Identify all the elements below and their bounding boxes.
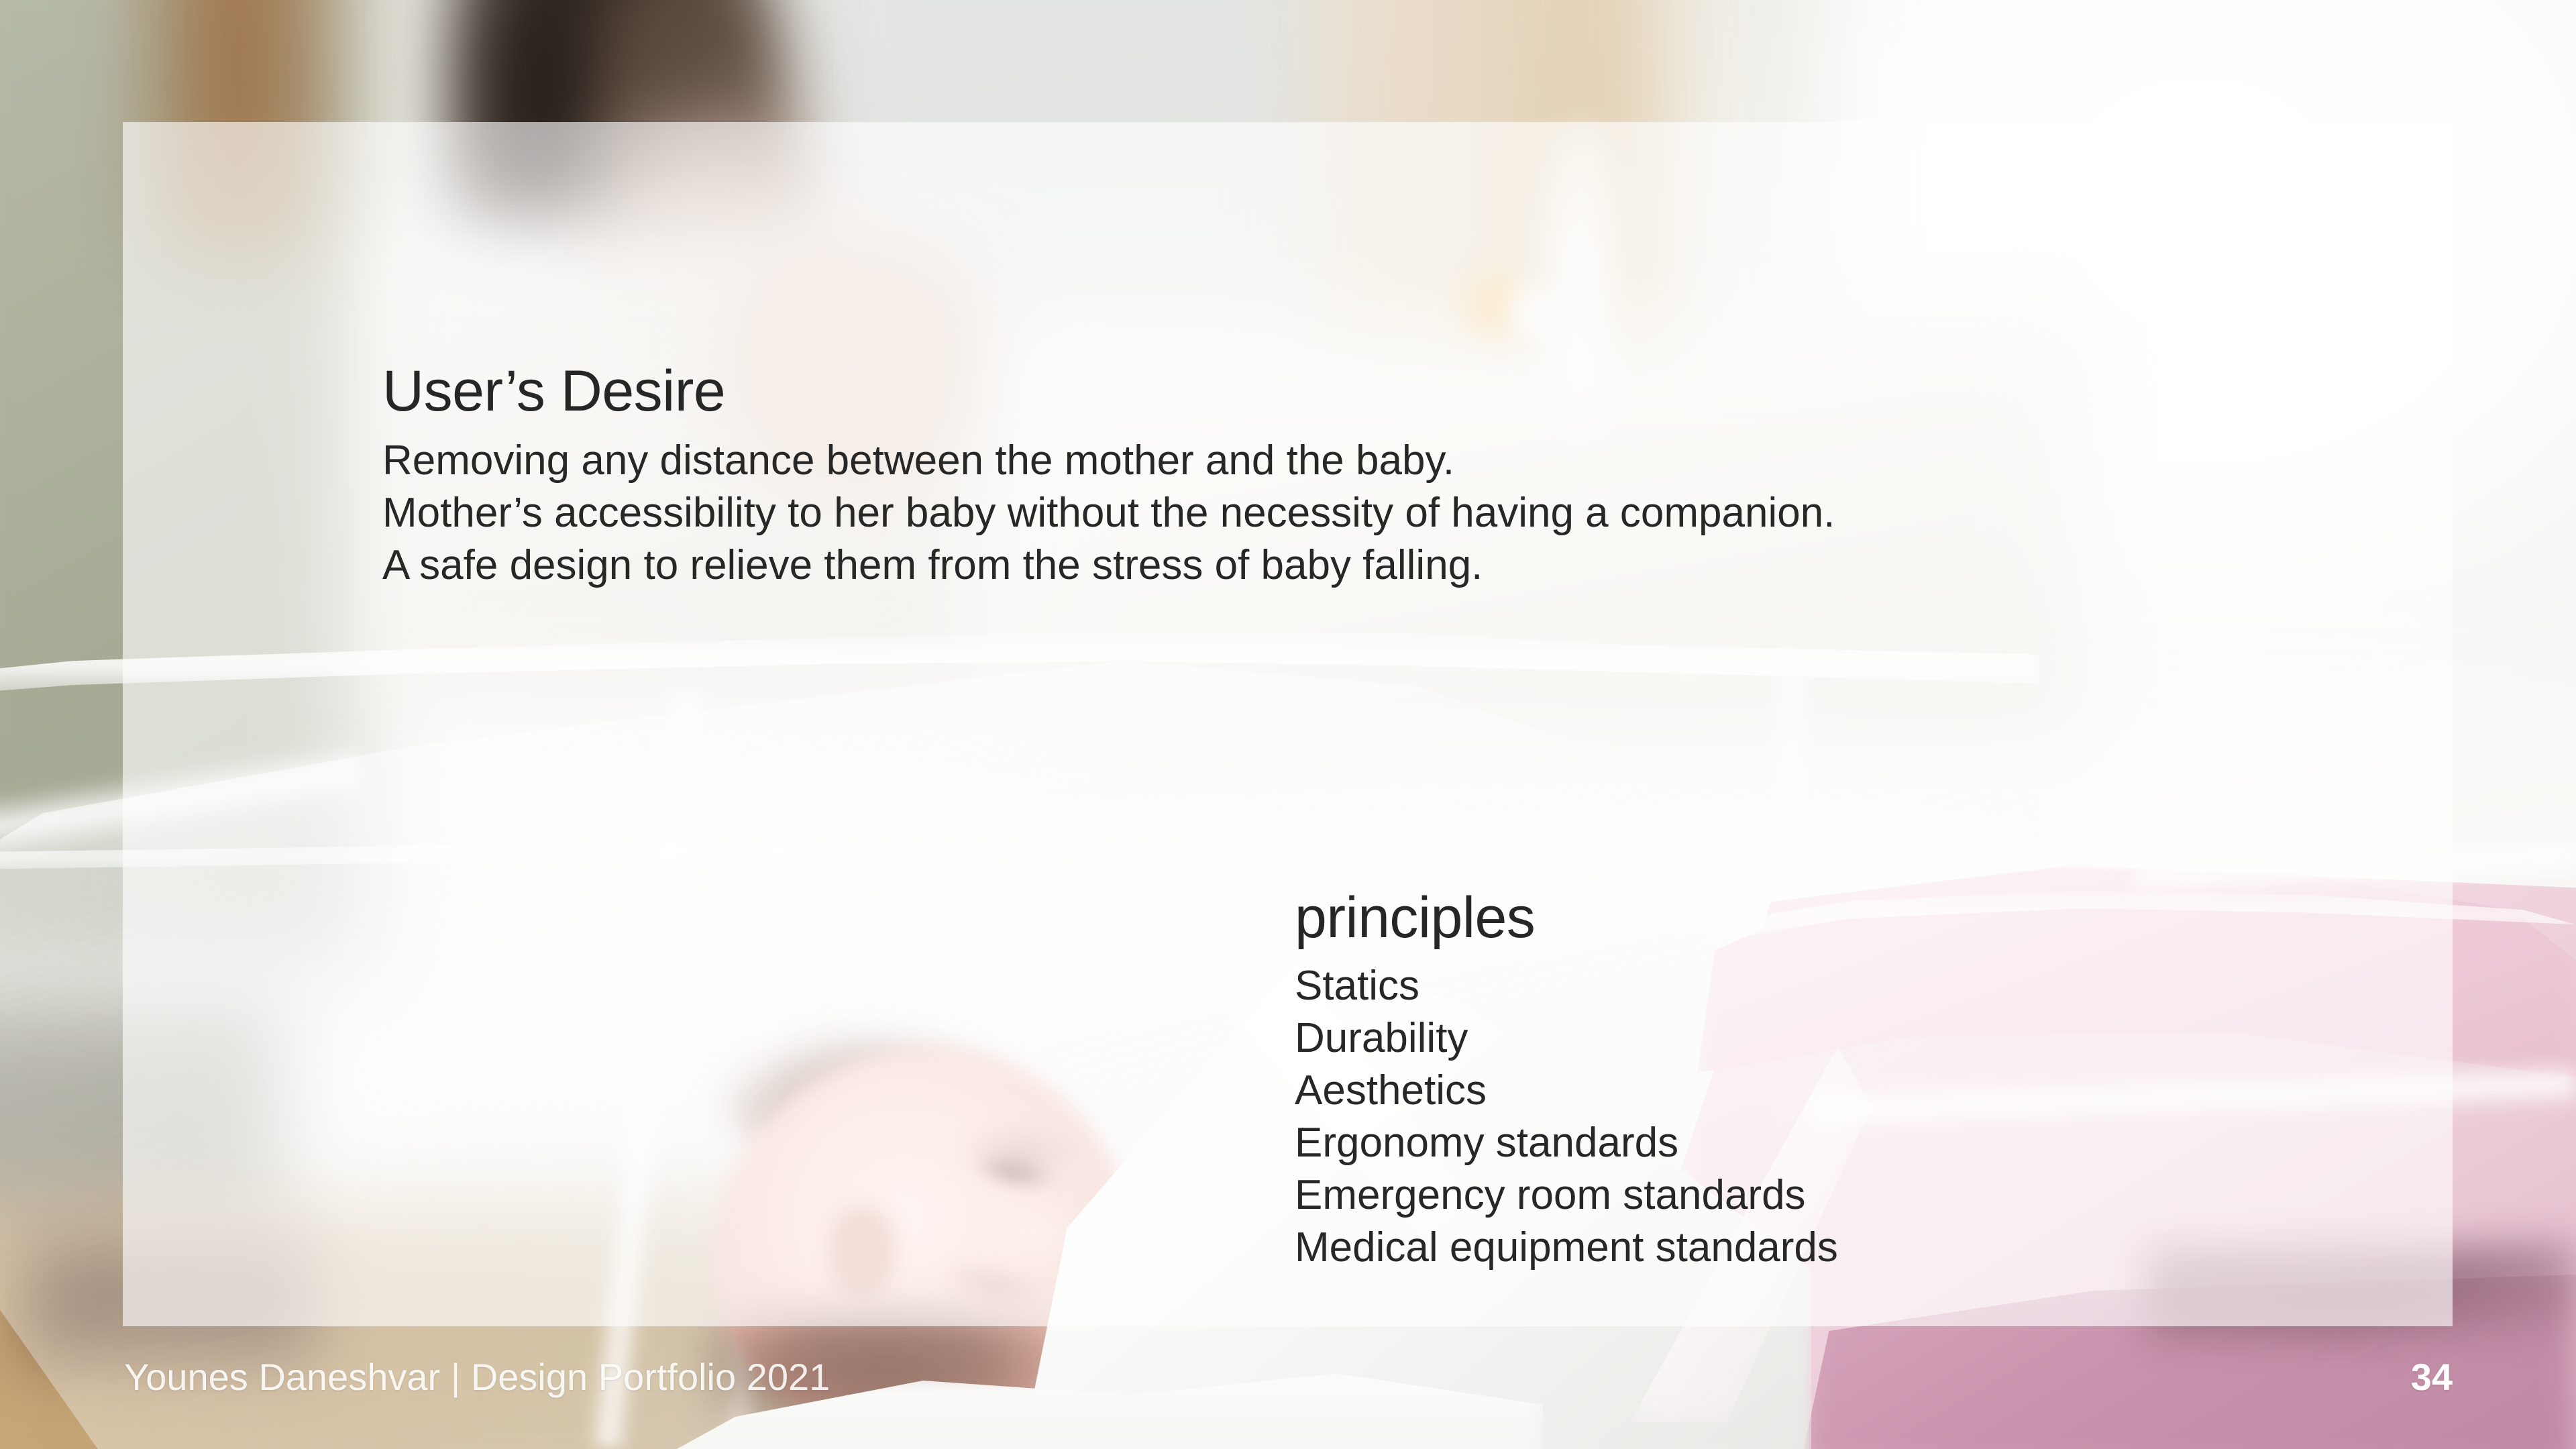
- users-desire-body: Removing any distance between the mother…: [382, 435, 1835, 592]
- principle-item-statics: Statics: [1295, 960, 1838, 1012]
- users-desire-block: User’s Desire Removing any distance betw…: [382, 362, 1835, 592]
- principles-heading: principles: [1295, 889, 1838, 947]
- principles-list: Statics Durability Aesthetics Ergonomy s…: [1295, 960, 1838, 1274]
- slide-content: User’s Desire Removing any distance betw…: [0, 0, 2576, 1449]
- page-number: 34: [2411, 1355, 2453, 1399]
- principles-block: principles Statics Durability Aesthetics…: [1295, 889, 1838, 1274]
- footer-credit: Younes Daneshvar | Design Portfolio 2021: [124, 1355, 830, 1399]
- users-desire-line-3: A safe design to relieve them from the s…: [382, 539, 1835, 592]
- slide-canvas: User’s Desire Removing any distance betw…: [0, 0, 2576, 1449]
- principle-item-durability: Durability: [1295, 1012, 1838, 1065]
- principle-item-ergonomy: Ergonomy standards: [1295, 1117, 1838, 1169]
- users-desire-line-1: Removing any distance between the mother…: [382, 435, 1835, 487]
- principle-item-aesthetics: Aesthetics: [1295, 1065, 1838, 1117]
- principle-item-emergency-room: Emergency room standards: [1295, 1169, 1838, 1222]
- users-desire-line-2: Mother’s accessibility to her baby witho…: [382, 487, 1835, 539]
- users-desire-heading: User’s Desire: [382, 362, 1835, 420]
- principle-item-medical-equipment: Medical equipment standards: [1295, 1222, 1838, 1274]
